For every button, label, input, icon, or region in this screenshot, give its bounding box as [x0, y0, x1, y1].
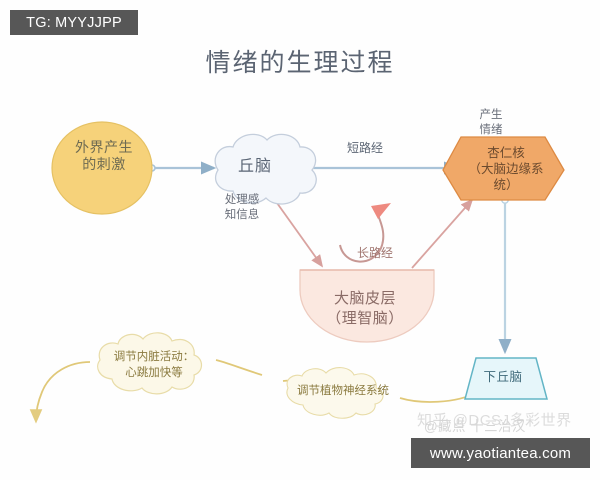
curved-feedback-arrow	[340, 203, 391, 262]
watermark-website-url: www.yaotiantea.com	[411, 438, 590, 468]
node-amygdala[interactable]	[443, 137, 564, 200]
node-autonomic-cloud	[287, 368, 383, 419]
diagram-graphics	[0, 0, 600, 480]
node-stimulus[interactable]	[52, 122, 152, 214]
edge-cortex-to-amygdala	[412, 200, 472, 268]
watermark-faint-secondary: @藏点 十三治汉	[424, 416, 526, 436]
node-viscera-cloud	[98, 333, 202, 394]
node-hypothalamus[interactable]	[465, 358, 547, 399]
node-cortex[interactable]	[300, 270, 434, 342]
edge-amygdala-to-hypothalamus	[502, 197, 508, 352]
diagram-canvas: 情绪的生理过程 外界产生 的刺激 丘脑 处理感 知信息 产生 情绪 杏仁核 （大…	[0, 0, 600, 480]
node-thalamus[interactable]	[215, 134, 316, 204]
edge-stimulus-to-thalamus	[149, 165, 214, 171]
watermark-telegram: TG: MYYJJPP	[10, 10, 138, 35]
